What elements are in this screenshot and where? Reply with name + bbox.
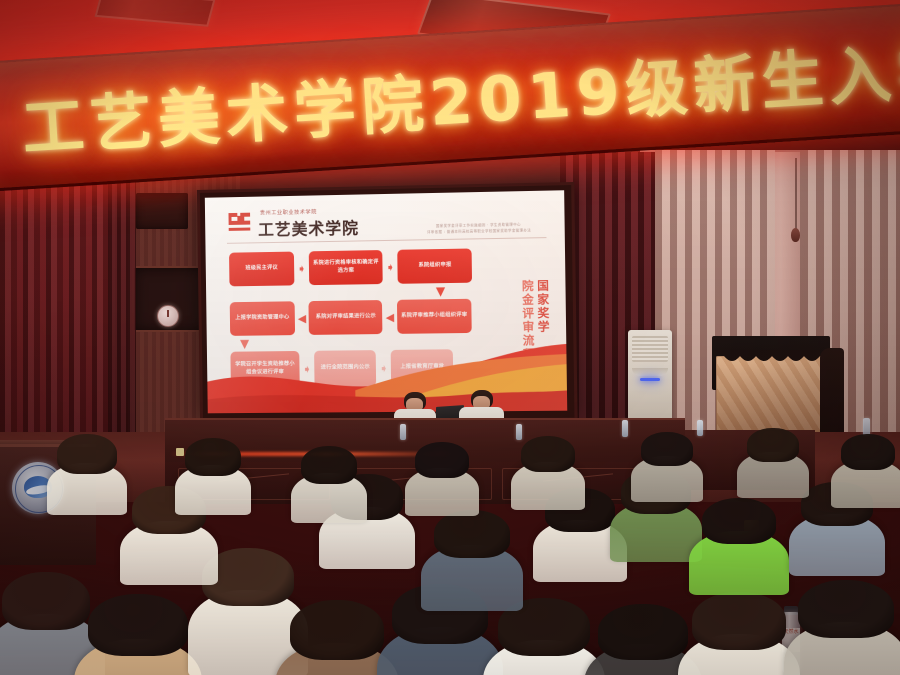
slide-glare	[205, 190, 567, 413]
piano-skirt	[714, 350, 820, 368]
curtain-left-inner	[108, 150, 136, 466]
piano-bench-cover	[820, 348, 844, 434]
water-bottle	[516, 424, 522, 440]
ac-vent-icon	[632, 336, 668, 362]
piano-skirt-scallop-icon	[714, 350, 820, 368]
water-bottle	[622, 420, 628, 437]
head-hair	[415, 442, 469, 478]
auditorium-photo: 工艺美术学院2019级新生入学教育 贵州工业职业技术学院 工艺美术学院 国家奖学…	[0, 0, 900, 675]
hanging-fixture-icon	[791, 228, 800, 242]
head-hair	[434, 510, 511, 558]
audience	[0, 452, 900, 675]
head-hair	[2, 572, 90, 630]
head-hair	[841, 434, 895, 470]
presentation-slide: 贵州工业职业技术学院 工艺美术学院 国家奖学金评审工作实施细则 · 学生资助管理…	[205, 190, 567, 413]
head-hair	[747, 428, 799, 462]
head-hair	[57, 434, 117, 474]
wall-clock-icon	[157, 305, 179, 327]
head-hair	[88, 594, 188, 656]
ac-status-led	[640, 378, 660, 381]
hanging-wire	[795, 158, 797, 230]
head-hair	[598, 604, 688, 660]
head-hair	[798, 580, 894, 638]
head-hair	[702, 498, 777, 544]
head-hair	[692, 592, 786, 650]
recessed-grille-light-icon	[95, 0, 216, 27]
head-hair	[290, 600, 384, 660]
water-bottle	[697, 420, 703, 436]
wall-recess-panel	[136, 193, 188, 229]
head-hair	[641, 432, 693, 466]
head-hair	[185, 438, 241, 476]
head-hair	[521, 436, 575, 472]
ac-outlet	[632, 368, 668, 376]
head-hair	[301, 446, 357, 484]
projection-screen: 贵州工业职业技术学院 工艺美术学院 国家奖学金评审工作实施细则 · 学生资助管理…	[197, 182, 578, 423]
water-bottle	[400, 424, 406, 440]
